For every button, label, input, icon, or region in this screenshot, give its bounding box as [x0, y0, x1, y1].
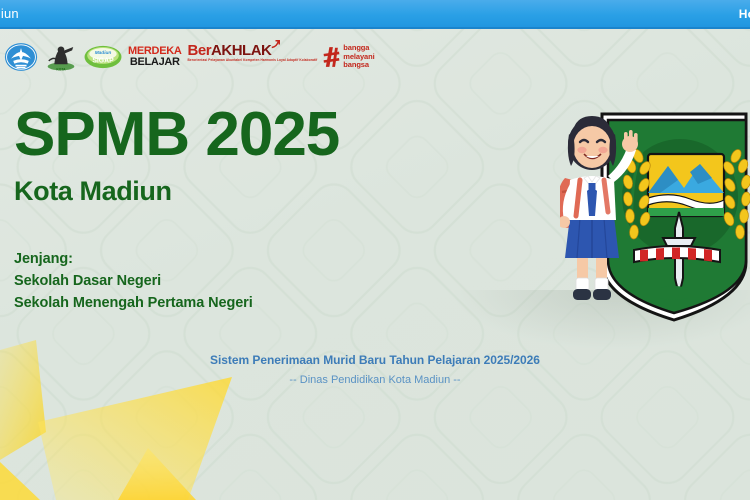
berakhlak-logo: BerAKHLAK Berorientasi Pelayanan Akuntab…: [188, 40, 318, 74]
jenjang-item-sd: Sekolah Dasar Negeri: [14, 270, 253, 292]
partner-logo-strip: KOTA Madiun SIGAP MERDEKA BELAJAR BerAKH…: [4, 40, 375, 74]
berakhlak-ber: Ber: [188, 42, 212, 59]
bangga-symbol-icon: [323, 46, 340, 68]
jenjang-item-smp: Sekolah Menengah Pertama Negeri: [14, 292, 253, 314]
merdeka-belajar-line2: BELAJAR: [130, 57, 180, 68]
berakhlak-subtitle: Berorientasi Pelayanan Akuntabel Kompete…: [188, 59, 318, 62]
caption-main-text: Sistem Penerimaan Murid Baru Tahun Pelaj…: [0, 353, 750, 367]
jenjang-label: Jenjang:: [14, 248, 253, 270]
nav-home-link[interactable]: Hom: [733, 7, 750, 21]
pemkot-madiun-logo: KOTA: [44, 40, 78, 74]
jenjang-block: Jenjang: Sekolah Dasar Negeri Sekolah Me…: [14, 248, 253, 314]
svg-text:KOTA: KOTA: [56, 67, 66, 71]
bangga-melayani-bangsa-logo: bangga melayani bangsa: [323, 40, 374, 74]
page-title: SPMB 2025: [14, 104, 339, 166]
bangga-line3: bangsa: [343, 61, 374, 69]
artwork-group: [560, 92, 750, 327]
tut-wuri-handayani-logo: [4, 40, 38, 74]
page-subtitle: Kota Madiun: [14, 178, 339, 205]
site-brand-label[interactable]: adiun: [0, 6, 19, 21]
merdeka-belajar-logo: MERDEKA BELAJAR: [128, 40, 182, 74]
caption-sub-text: -- Dinas Pendidikan Kota Madiun --: [0, 374, 750, 386]
berakhlak-swoosh-icon: [271, 40, 280, 49]
hero-section: SPMB 2025 Kota Madiun: [14, 104, 339, 205]
berakhlak-akhlak: AKHLAK: [211, 42, 271, 59]
top-navigation-bar: adiun Hom: [0, 0, 750, 29]
svg-text:Madiun: Madiun: [95, 50, 112, 56]
madiun-sigap-logo: Madiun SIGAP: [84, 40, 122, 74]
main-nav: Hom: [733, 0, 750, 27]
svg-text:SIGAP: SIGAP: [92, 57, 114, 64]
footer-caption: Sistem Penerimaan Murid Baru Tahun Pelaj…: [0, 353, 750, 386]
